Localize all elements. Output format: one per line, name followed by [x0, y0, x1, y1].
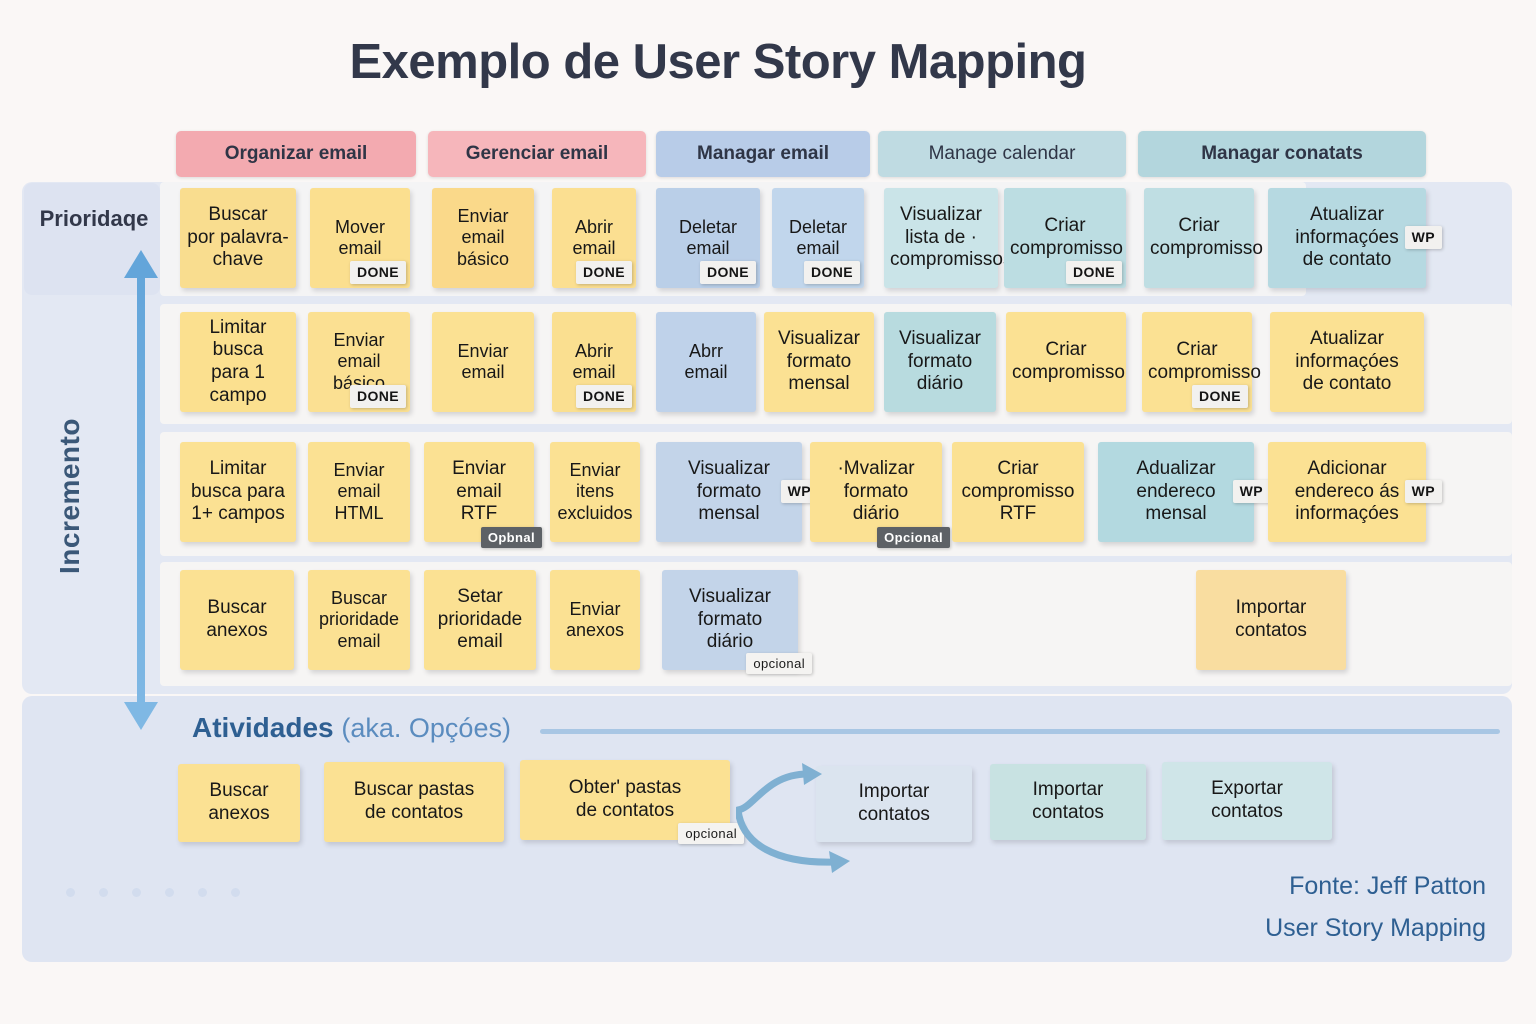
decorative-dots: [66, 884, 366, 894]
card-text: Enviaranexos: [556, 599, 634, 642]
activity-header-label: Managar email: [697, 143, 829, 165]
page-title: Exemplo de User Story Mapping: [0, 34, 1436, 90]
option-row-card-2[interactable]: Buscar pastasde contatos: [324, 762, 504, 842]
card-text: Adicionarendereco ásinformaçóes: [1274, 458, 1420, 526]
row-2-card-7[interactable]: Visualizarformatodiário: [884, 312, 996, 412]
card-badge-done: DONE: [804, 261, 860, 284]
option-row-card-3[interactable]: Obter' pastasde contatosopcional: [520, 760, 730, 840]
row-3-card-8[interactable]: AdualizarenderecomensalWP: [1098, 442, 1254, 542]
row-3-card-7[interactable]: CriarcompromissoRTF: [952, 442, 1084, 542]
row-3-card-5[interactable]: VisualizarformatomensalWP: [656, 442, 802, 542]
card-text: Visualizarformatodiário: [668, 586, 792, 654]
card-badge-done: DONE: [576, 385, 632, 408]
activity-header-label: Organizar email: [225, 143, 368, 165]
card-badge-done: DONE: [576, 261, 632, 284]
row-2-card-1[interactable]: Limitarbuscapara 1 campo: [180, 312, 296, 412]
card-text: Visualizarformatodiário: [890, 328, 990, 396]
card-badge-done: DONE: [1066, 261, 1122, 284]
row-2-card-3[interactable]: Enviaremail: [432, 312, 534, 412]
row-3-card-4[interactable]: Enviaritensexcluidos: [550, 442, 640, 542]
row-1-card-3[interactable]: Enviaremailbásico: [432, 188, 534, 288]
card-text: CriarcompromissoRTF: [958, 458, 1078, 526]
card-badge-optional-dark: Opbnal: [481, 527, 542, 548]
card-badge-wp: WP: [1405, 480, 1442, 503]
card-text: Moveremail: [316, 217, 404, 260]
card-text: Criarcompromisso: [1012, 339, 1120, 384]
card-text: Adualizarenderecomensal: [1104, 458, 1248, 526]
row-1-card-9[interactable]: Criarcompromisso: [1144, 188, 1254, 288]
option-row-card-1[interactable]: Buscaranexos: [178, 764, 300, 842]
card-badge-wp: WP: [1405, 226, 1442, 249]
card-text: ·Mvalizarformatodiário: [816, 458, 936, 526]
row-3-card-9[interactable]: Adicionarendereco ásinformaçóesWP: [1268, 442, 1426, 542]
card-badge-done: DONE: [350, 385, 406, 408]
row-1-card-10[interactable]: Atualizarinformaçóesde contatoWP: [1268, 188, 1426, 288]
card-text: Atualizarinformaçóesde contato: [1274, 204, 1420, 272]
story-map-board: Exemplo de User Story Mapping Prioridaqe…: [0, 0, 1536, 1024]
card-badge-done: DONE: [350, 261, 406, 284]
activity-header-3[interactable]: Managar email: [656, 131, 870, 177]
card-text: Criarcompromisso: [1148, 339, 1246, 384]
card-badge-done: DONE: [700, 261, 756, 284]
card-text: Visualizarformatomensal: [662, 458, 796, 526]
card-text: Abriremail: [558, 341, 630, 384]
card-text: Criarcompromisso: [1010, 215, 1120, 260]
row-3-card-3[interactable]: EnviaremailRTFOpbnal: [424, 442, 534, 542]
card-text: Importarcontatos: [996, 779, 1140, 824]
card-text: Setarprioridadeemail: [430, 586, 530, 654]
activities-heading-sub: (aka. Opçóes): [341, 713, 511, 743]
card-text: Enviaremail: [438, 341, 528, 384]
option-row-card-5[interactable]: Importarcontatos: [990, 764, 1146, 840]
card-text: Enviaremailbásico: [438, 206, 528, 270]
row-2-card-9[interactable]: CriarcompromissoDONE: [1142, 312, 1252, 412]
activities-divider: [540, 729, 1500, 734]
card-text: Exportarcontatos: [1168, 778, 1326, 823]
activity-header-label: Managar conatats: [1201, 143, 1363, 165]
row-1-card-4[interactable]: AbriremailDONE: [552, 188, 636, 288]
card-text: Buscaranexos: [186, 597, 288, 642]
activities-heading: Atividades (aka. Opçóes): [192, 712, 511, 744]
row-2-card-8[interactable]: Criarcompromisso: [1006, 312, 1126, 412]
activity-header-2[interactable]: Gerenciar email: [428, 131, 646, 177]
card-text: Visualizarlista de ·compromissos: [890, 204, 992, 272]
row-2-card-4[interactable]: AbriremailDONE: [552, 312, 636, 412]
row-4-card-5[interactable]: Visualizarformatodiárioopcional: [662, 570, 798, 670]
row-1-card-8[interactable]: CriarcompromissoDONE: [1004, 188, 1126, 288]
row-1-card-6[interactable]: DeletaremailDONE: [772, 188, 864, 288]
row-3-card-6[interactable]: ·MvalizarformatodiárioOpcional: [810, 442, 942, 542]
card-badge-optional-light: opcional: [746, 653, 812, 674]
row-4-card-3[interactable]: Setarprioridadeemail: [424, 570, 536, 670]
card-text: Buscarprioridadeemail: [314, 588, 404, 652]
card-text: Obter' pastasde contatos: [526, 777, 724, 822]
card-text: Buscar pastasde contatos: [330, 779, 498, 824]
row-2-card-10[interactable]: Atualizarinformaçóesde contato: [1270, 312, 1424, 412]
card-text: Enviaritensexcluidos: [556, 460, 634, 524]
card-text: Limitarbusca para1+ campos: [186, 458, 290, 526]
activities-heading-main: Atividades: [192, 712, 334, 743]
card-text: Limitarbuscapara 1 campo: [186, 317, 290, 407]
card-badge-done: DONE: [1192, 385, 1248, 408]
option-row-card-6[interactable]: Exportarcontatos: [1162, 762, 1332, 840]
activity-header-1[interactable]: Organizar email: [176, 131, 416, 177]
increment-label: Incremento: [54, 386, 86, 606]
activity-header-label: Gerenciar email: [466, 143, 609, 165]
activity-header-5[interactable]: Managar conatats: [1138, 131, 1426, 177]
row-4-card-6[interactable]: Importarcontatos: [1196, 570, 1346, 670]
source-line-2: User Story Mapping: [1265, 914, 1486, 943]
row-2-card-6[interactable]: Visualizarformatomensal: [764, 312, 874, 412]
row-2-card-2[interactable]: EnviaremailbásicoDONE: [308, 312, 410, 412]
row-1-card-1[interactable]: Buscarpor palavra-chave: [180, 188, 296, 288]
card-text: Importarcontatos: [1202, 597, 1340, 642]
card-text: Buscarpor palavra-chave: [186, 204, 290, 272]
activity-header-4[interactable]: Manage calendar: [878, 131, 1126, 177]
row-3-card-2[interactable]: EnviaremailHTML: [308, 442, 410, 542]
card-badge-optional-light: opcional: [678, 823, 744, 844]
row-4-card-1[interactable]: Buscaranexos: [180, 570, 294, 670]
row-1-card-7[interactable]: Visualizarlista de ·compromissos: [884, 188, 998, 288]
card-text: Buscaranexos: [184, 780, 294, 825]
row-1-card-5[interactable]: DeletaremailDONE: [656, 188, 760, 288]
priority-label: Prioridaqe: [24, 206, 164, 232]
card-text: Criarcompromisso: [1150, 215, 1248, 260]
card-text: Deletaremail: [662, 217, 754, 260]
row-4-card-4[interactable]: Enviaranexos: [550, 570, 640, 670]
card-text: Atualizarinformaçóesde contato: [1276, 328, 1418, 396]
source-line-1: Fonte: Jeff Patton: [1289, 872, 1486, 901]
double-arrow-vertical-icon: [120, 250, 162, 730]
row-4-card-2[interactable]: Buscarprioridadeemail: [308, 570, 410, 670]
row-3-card-1[interactable]: Limitarbusca para1+ campos: [180, 442, 296, 542]
card-text: EnviaremailHTML: [314, 460, 404, 524]
card-text: Abriremail: [558, 217, 630, 260]
card-text: Abrremail: [662, 341, 750, 384]
branching-arrow-icon: [736, 758, 866, 878]
row-1-card-2[interactable]: MoveremailDONE: [310, 188, 410, 288]
row-2-card-5[interactable]: Abrremail: [656, 312, 756, 412]
activity-header-label: Manage calendar: [929, 143, 1076, 165]
card-text: EnviaremailRTF: [430, 458, 528, 526]
card-text: Deletaremail: [778, 217, 858, 260]
card-badge-wp: WP: [1233, 480, 1270, 503]
card-text: Visualizarformatomensal: [770, 328, 868, 396]
card-badge-optional-dark: Opcional: [877, 527, 950, 548]
